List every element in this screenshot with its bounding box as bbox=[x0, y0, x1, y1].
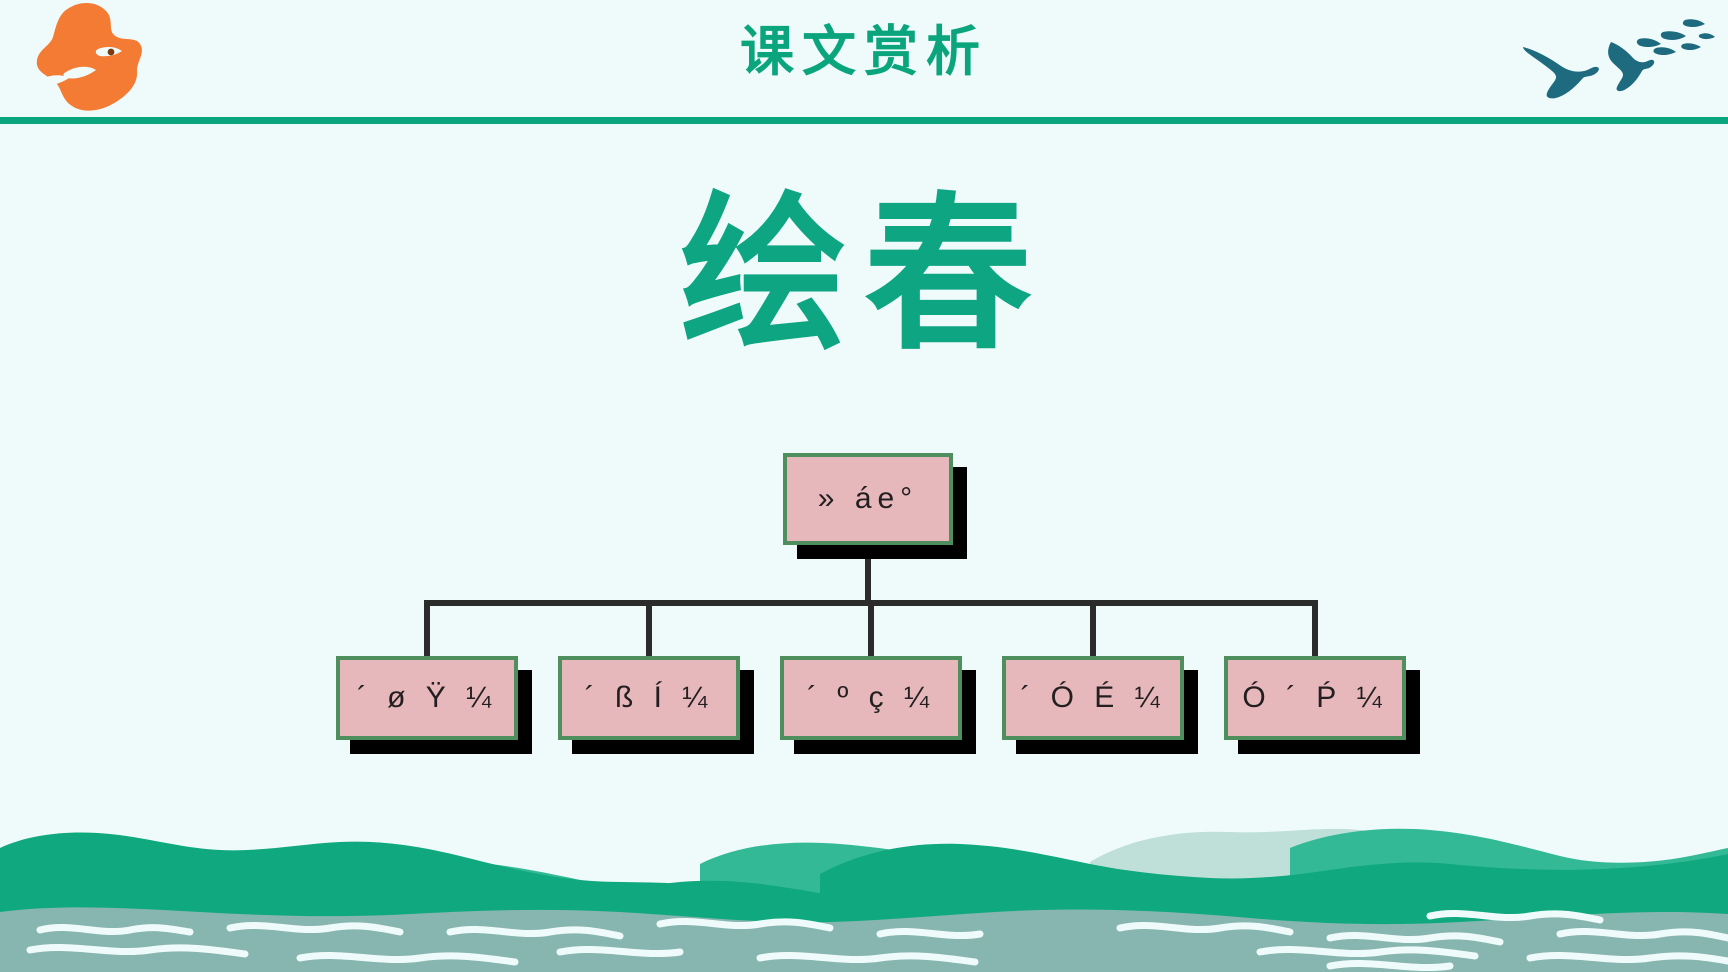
leaf-node-2[interactable]: ´ ß Í ¼ bbox=[558, 656, 740, 740]
page-title: 课文赏析 bbox=[0, 22, 1728, 82]
connector-drop-3 bbox=[868, 600, 874, 658]
connector-drop-5 bbox=[1312, 600, 1318, 658]
connector-drop-4 bbox=[1090, 600, 1096, 658]
slide-header: 课文赏析 bbox=[0, 0, 1728, 124]
leaf-node-5[interactable]: Ó ´ Ṕ ¼ bbox=[1224, 656, 1406, 740]
leaf-node-3[interactable]: ´ º ç ¼ bbox=[780, 656, 962, 740]
landscape-decoration bbox=[0, 752, 1728, 972]
section-heading: 绘春 bbox=[0, 182, 1728, 368]
header-divider bbox=[0, 117, 1728, 124]
connector-drop-2 bbox=[646, 600, 652, 658]
connector-drop-1 bbox=[424, 600, 430, 658]
leaf-node-4[interactable]: ´ Ó É ¼ bbox=[1002, 656, 1184, 740]
root-node[interactable]: » áe° bbox=[783, 453, 953, 545]
slide: 课文赏析 绘春 bbox=[0, 0, 1728, 972]
flying-birds-icon bbox=[1515, 8, 1715, 112]
leaf-node-1[interactable]: ´ ø Ÿ ¼ bbox=[336, 656, 518, 740]
